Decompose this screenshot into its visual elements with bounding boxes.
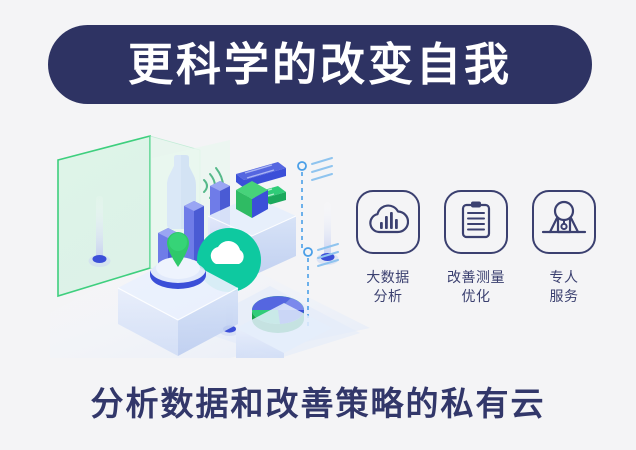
feature-icon-frame [444, 190, 508, 254]
feature-improvement-measurement[interactable]: 改善测量 优化 [440, 190, 512, 330]
feature-big-data-analysis[interactable]: 大数据 分析 [352, 190, 424, 330]
page-title: 更科学的改变自我 [128, 42, 512, 87]
support-agent-icon [541, 199, 587, 246]
feature-label: 专人 服务 [550, 268, 579, 306]
feature-label: 大数据 分析 [366, 268, 410, 306]
feature-icon-frame [532, 190, 596, 254]
feature-label-line1: 大数据 [366, 269, 410, 285]
clipboard-icon [458, 200, 494, 245]
feature-label-line1: 专人 [550, 269, 579, 285]
tag-blue [236, 162, 286, 188]
feature-label-line2: 优化 [447, 287, 505, 306]
footer-tagline: 分析数据和改善策略的私有云 [0, 385, 636, 423]
feature-label-line2: 服务 [550, 287, 579, 306]
feature-label-line2: 分析 [366, 287, 410, 306]
illustration [40, 128, 370, 358]
title-banner: 更科学的改变自我 [48, 25, 592, 104]
feature-dedicated-service[interactable]: 专人 服务 [528, 190, 600, 330]
feature-label-line1: 改善测量 [447, 269, 505, 285]
isometric-scene-svg [40, 128, 370, 358]
feature-icon-frame [356, 190, 420, 254]
feature-label: 改善测量 优化 [447, 268, 505, 306]
poster-canvas: 更科学的改变自我 [0, 0, 636, 450]
cloud-bar-chart-icon [367, 203, 409, 242]
feature-list: 大数据 分析 [352, 190, 600, 330]
